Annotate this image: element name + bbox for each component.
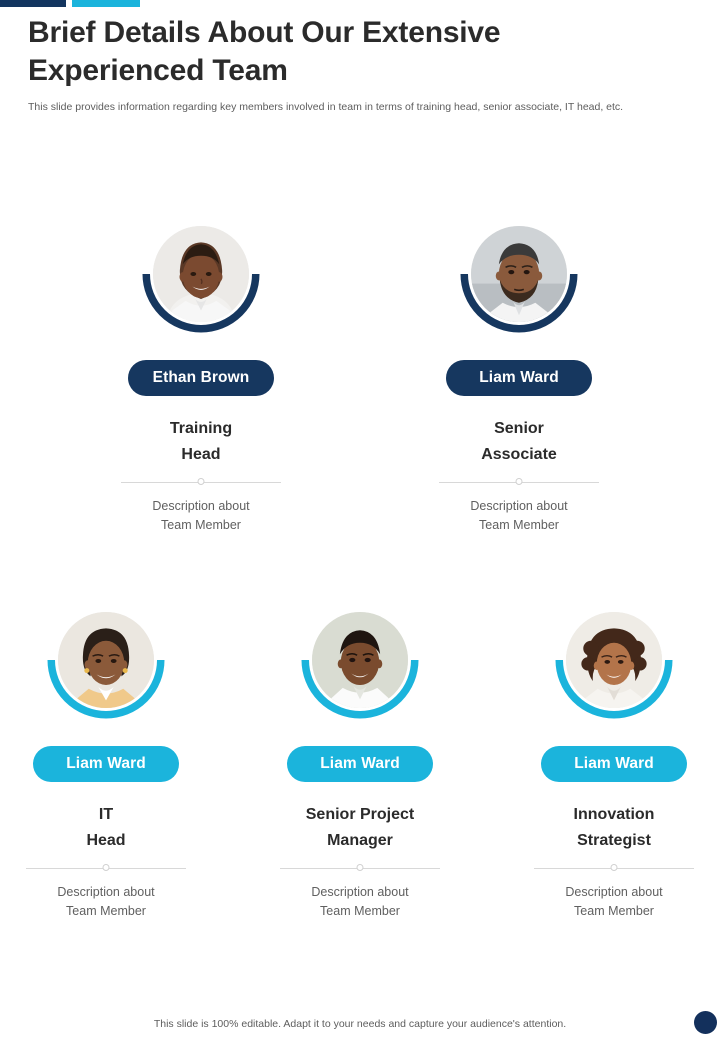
- portrait-young-person-icon: [312, 612, 408, 708]
- team-row-2: Liam Ward IT Head Description about Team…: [0, 598, 720, 921]
- team-member-card[interactable]: Liam Ward IT Head Description about Team…: [18, 598, 194, 921]
- team-member-card[interactable]: Liam Ward Senior Project Manager Descrip…: [272, 598, 448, 921]
- team-member-card[interactable]: Liam Ward Innovation Strategist Descript…: [526, 598, 702, 921]
- avatar-photo: [468, 223, 570, 325]
- member-description: Description about Team Member: [470, 497, 567, 535]
- member-role: Senior Project Manager: [306, 802, 414, 854]
- avatar-photo: [150, 223, 252, 325]
- portrait-woman-curly-hair-icon: [566, 612, 662, 708]
- page-subtitle: This slide provides information regardin…: [28, 100, 668, 116]
- member-role: Training Head: [170, 416, 232, 468]
- portrait-man-short-hair-icon: [153, 226, 249, 322]
- member-name-pill[interactable]: Liam Ward: [287, 746, 433, 782]
- member-role: Innovation Strategist: [574, 802, 655, 854]
- member-name-pill[interactable]: Liam Ward: [33, 746, 179, 782]
- avatar: [552, 598, 676, 722]
- avatar-photo: [309, 609, 411, 711]
- divider: [26, 863, 186, 875]
- member-name-pill[interactable]: Liam Ward: [446, 360, 592, 396]
- team-row-1: Ethan Brown Training Head Description ab…: [0, 212, 720, 535]
- footer-note: This slide is 100% editable. Adapt it to…: [0, 1018, 720, 1030]
- divider: [280, 863, 440, 875]
- slide-header: Brief Details About Our Extensive Experi…: [28, 14, 688, 116]
- member-name-pill[interactable]: Ethan Brown: [128, 360, 274, 396]
- divider-dot-icon: [516, 478, 523, 485]
- footer-accent-dot: [694, 1011, 717, 1034]
- avatar: [298, 598, 422, 722]
- avatar-photo: [563, 609, 665, 711]
- avatar: [44, 598, 168, 722]
- portrait-woman-smiling-icon: [58, 612, 154, 708]
- member-description: Description about Team Member: [565, 883, 662, 921]
- avatar: [457, 212, 581, 336]
- divider: [534, 863, 694, 875]
- member-description: Description about Team Member: [311, 883, 408, 921]
- divider-dot-icon: [103, 864, 110, 871]
- divider-dot-icon: [611, 864, 618, 871]
- accent-bar-cyan: [72, 0, 140, 7]
- member-description: Description about Team Member: [57, 883, 154, 921]
- team-member-card[interactable]: Liam Ward Senior Associate Description a…: [431, 212, 607, 535]
- member-role: Senior Associate: [481, 416, 557, 468]
- member-role: IT Head: [86, 802, 125, 854]
- page-title: Brief Details About Our Extensive Experi…: [28, 14, 548, 91]
- avatar-photo: [55, 609, 157, 711]
- portrait-man-beard-icon: [471, 226, 567, 322]
- accent-bar-navy: [0, 0, 66, 7]
- team-member-card[interactable]: Ethan Brown Training Head Description ab…: [113, 212, 289, 535]
- avatar: [139, 212, 263, 336]
- divider-dot-icon: [198, 478, 205, 485]
- divider-dot-icon: [357, 864, 364, 871]
- member-description: Description about Team Member: [152, 497, 249, 535]
- divider: [439, 477, 599, 489]
- divider: [121, 477, 281, 489]
- member-name-pill[interactable]: Liam Ward: [541, 746, 687, 782]
